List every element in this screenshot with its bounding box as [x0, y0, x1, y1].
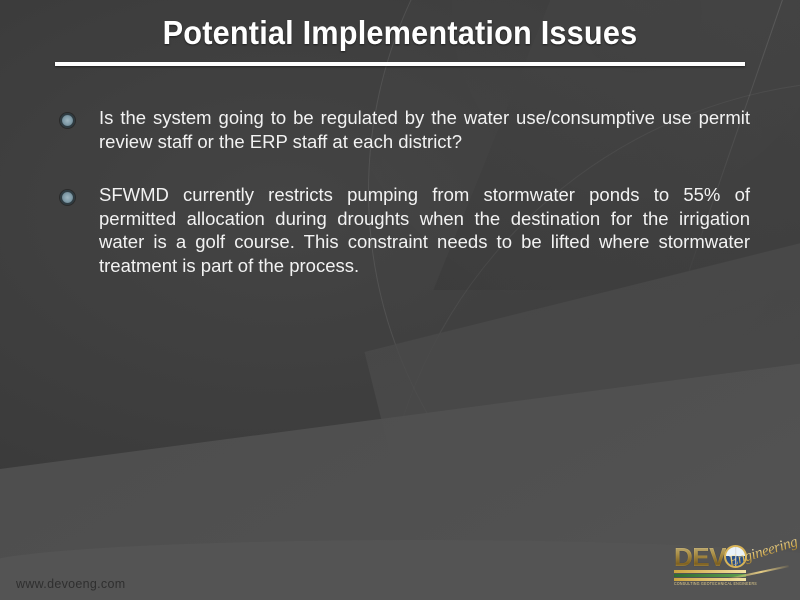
- slide-title: Potential Implementation Issues: [28, 14, 772, 52]
- logo-wordmark: DEV: [674, 542, 726, 573]
- website-url[interactable]: www.devoeng.com: [16, 577, 125, 591]
- bullet-item: SFWMD currently restricts pumping from s…: [60, 183, 750, 277]
- bullet-item: Is the system going to be regulated by t…: [60, 106, 750, 153]
- bullet-text: Is the system going to be regulated by t…: [99, 106, 750, 153]
- devo-engineering-logo: DEV CONSULTING GEOTECHNICAL ENGINEERS En…: [672, 540, 792, 592]
- logo-tagline: CONSULTING GEOTECHNICAL ENGINEERS: [674, 581, 748, 586]
- presentation-slide: Potential Implementation Issues Is the s…: [0, 0, 800, 600]
- slide-body: Is the system going to be regulated by t…: [60, 106, 750, 307]
- logo-script-text: Engineering: [727, 534, 800, 571]
- bullet-text: SFWMD currently restricts pumping from s…: [99, 183, 750, 277]
- title-underline-rule: [55, 62, 745, 66]
- logo-bar-gold-top: [674, 570, 746, 573]
- ring-bullet-icon: [60, 113, 75, 128]
- ring-bullet-icon: [60, 190, 75, 205]
